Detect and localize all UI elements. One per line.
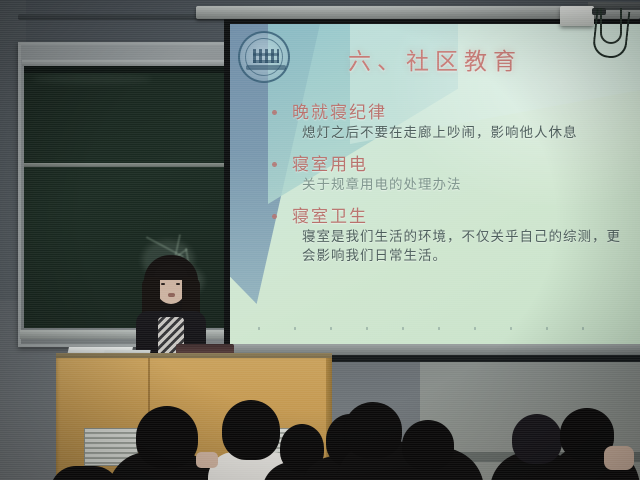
audience-head [136,406,198,468]
bullet-detail: 关于规章用电的处理办法 [302,176,632,195]
audience-hand [604,446,634,470]
slide-body: 晚就寝纪律 熄灯之后不要在走廊上吵闹，影响他人休息 寝室用电 关于规章用电的处理… [272,98,632,274]
bullet-dot-icon [272,214,277,219]
bullet-dot-icon [272,110,277,115]
bullet-heading: 寝室卫生 [292,202,632,227]
audience-head [512,414,562,464]
chalkboard-rail-top [22,60,228,66]
projected-slide: 六、社区教育 晚就寝纪律 熄灯之后不要在走廊上吵闹，影响他人休息 寝室用电 关于… [230,24,640,346]
bullet-item: 寝室用电 关于规章用电的处理办法 [272,150,632,195]
presenter-eye-left [161,283,165,285]
chalkboard-rail-middle [24,163,224,167]
projector-body [560,6,594,26]
slide-title: 六、社区教育 [230,42,640,76]
audience-head [344,402,402,458]
slide-background: 六、社区教育 晚就寝纪律 熄灯之后不要在走廊上吵闹，影响他人休息 寝室用电 关于… [230,24,640,346]
presenter-eye-right [176,283,180,285]
presenter-mouth [168,293,175,297]
bullet-heading: 寝室用电 [292,150,632,175]
bullet-heading: 晚就寝纪律 [292,98,632,123]
bullet-dot-icon [272,162,277,167]
bullet-item: 寝室卫生 寝室是我们生活的环境，不仅关乎自己的综测，更会影响我们日常生活。 [272,202,632,266]
classroom-photo: 六、社区教育 晚就寝纪律 熄灯之后不要在走廊上吵闹，影响他人休息 寝室用电 关于… [0,0,640,480]
audience-head [402,420,454,470]
chalkboard-top-edge [24,66,224,73]
bullet-item: 晚就寝纪律 熄灯之后不要在走廊上吵闹，影响他人休息 [272,98,632,143]
slide-footer-dots [258,327,613,330]
bullet-detail: 寝室是我们生活的环境，不仅关乎自己的综测，更会影响我们日常生活。 [302,228,632,266]
audience-hand [196,452,218,468]
bullet-detail: 熄灯之后不要在走廊上吵闹，影响他人休息 [302,124,632,143]
audience-head [222,400,280,460]
projector-cable-secondary [600,8,622,44]
